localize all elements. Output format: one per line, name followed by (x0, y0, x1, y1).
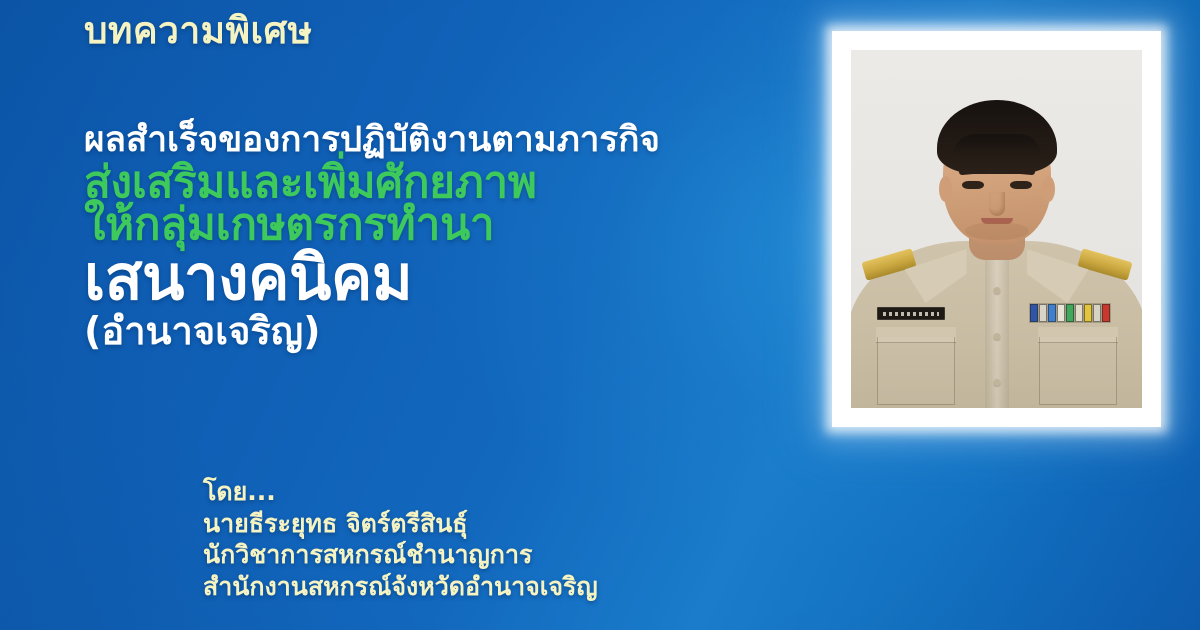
author-name: นายธีระยุทธ จิตร์ตรีสินธุ์ (203, 508, 598, 540)
head (943, 108, 1051, 244)
ribbon-segment (1102, 304, 1110, 322)
eye-left (962, 181, 984, 189)
ribbon-segment (1093, 304, 1101, 322)
ribbon-segment (1075, 304, 1083, 322)
article-cover-poster: บทความพิเศษ ผลสำเร็จของการปฏิบัติงานตามภ… (0, 0, 1200, 630)
shirt-button (993, 333, 1000, 340)
chest-pocket-right (1039, 337, 1117, 405)
eye-right (1010, 181, 1032, 189)
ear-left (939, 176, 952, 202)
name-badge (877, 307, 945, 320)
content-layer: บทความพิเศษ ผลสำเร็จของการปฏิบัติงานตามภ… (0, 0, 1200, 630)
author-block: โดย... นายธีระยุทธ จิตร์ตรีสินธุ์ นักวิช… (203, 476, 598, 602)
portrait-photo-frame (832, 31, 1161, 427)
ribbon-segment (1048, 304, 1056, 322)
author-office: สำนักงานสหกรณ์จังหวัดอำนาจเจริญ (203, 571, 598, 603)
headline-block: ผลสำเร็จของการปฏิบัติงานตามภารกิจ ส่งเสร… (84, 122, 824, 352)
ribbon-segment (1084, 304, 1092, 322)
ribbon-bar (1029, 303, 1111, 323)
shirt-button (993, 287, 1000, 294)
shirt-button (993, 379, 1000, 386)
author-by-label: โดย... (203, 476, 598, 508)
ear-right (1042, 176, 1055, 202)
chest-pocket-left (877, 337, 955, 405)
kicker-label: บทความพิเศษ (84, 8, 312, 54)
epaulette-left-icon (861, 248, 916, 281)
headline-line-4-place-name: เสนางคนิคม (84, 246, 824, 310)
headline-line-5-province: (อำนาจเจริญ) (84, 312, 824, 352)
portrait-photo (848, 47, 1145, 411)
ribbon-segment (1057, 304, 1065, 322)
nose (989, 192, 1005, 216)
epaulette-right-icon (1077, 248, 1132, 281)
hair (937, 100, 1057, 174)
portrait-illustration (851, 50, 1142, 408)
ribbon-segment (1066, 304, 1074, 322)
chin-shadow (965, 222, 1029, 240)
headline-line-1: ผลสำเร็จของการปฏิบัติงานตามภารกิจ (84, 122, 824, 158)
ribbon-segment (1039, 304, 1047, 322)
uniform-shirt (851, 241, 1142, 408)
ribbon-segment (1030, 304, 1038, 322)
author-position: นักวิชาการสหกรณ์ชำนาญการ (203, 539, 598, 571)
